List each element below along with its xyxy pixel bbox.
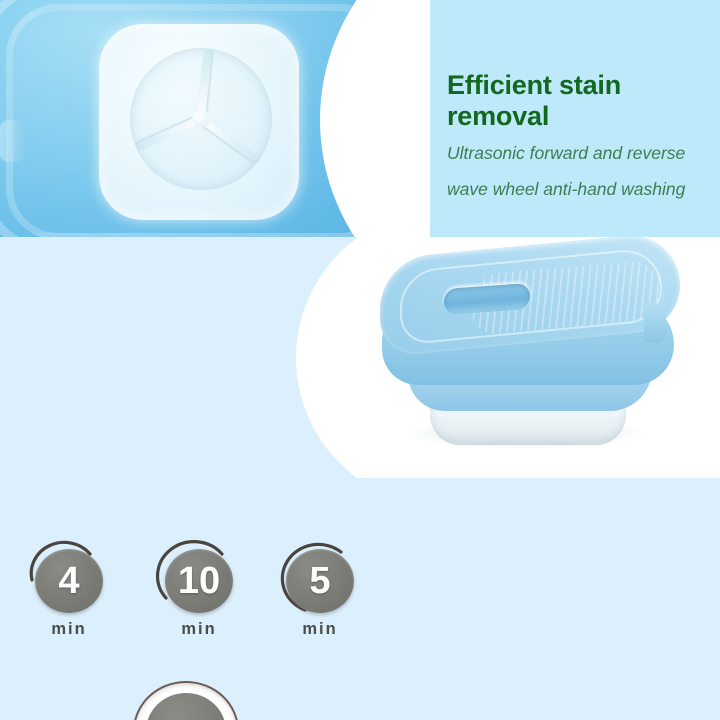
power-button[interactable]: [135, 683, 237, 720]
product-photo-folded-machine: [296, 237, 720, 478]
photo-mask-arc: [320, 0, 430, 237]
timer-button-10-min[interactable]: 10 min: [156, 540, 248, 650]
timer-button-value: 4: [35, 549, 103, 613]
feature-headline: Efficient stain removal: [447, 70, 709, 132]
feature-text-efficient-stain-removal: Efficient stain removal Ultrasonic forwa…: [447, 70, 709, 204]
wave-wheel-blade: [197, 50, 212, 119]
timer-button-value: 10: [165, 549, 233, 613]
timer-button-unit: min: [26, 620, 112, 639]
product-photo-wash-tub-top-view: [0, 0, 430, 237]
timer-button-unit: min: [156, 620, 242, 639]
timer-button-5-min[interactable]: 5 min: [277, 540, 369, 650]
product-infographic: Efficient stain removal Ultrasonic forwa…: [0, 0, 720, 720]
wave-wheel-hub: [192, 110, 210, 128]
timer-button-unit: min: [277, 620, 363, 639]
feature-section-efficient-stain-removal: Efficient stain removal Ultrasonic forwa…: [0, 0, 720, 237]
feature-body-line-2: wave wheel anti-hand washing: [447, 175, 709, 204]
feature-body-line-1: Ultrasonic forward and reverse: [447, 139, 709, 168]
timer-button-4-min[interactable]: 4 min: [26, 540, 118, 650]
timer-button-value: 5: [286, 549, 354, 613]
machine-side-latch: [644, 303, 666, 343]
tub-latch-left: [0, 120, 26, 162]
